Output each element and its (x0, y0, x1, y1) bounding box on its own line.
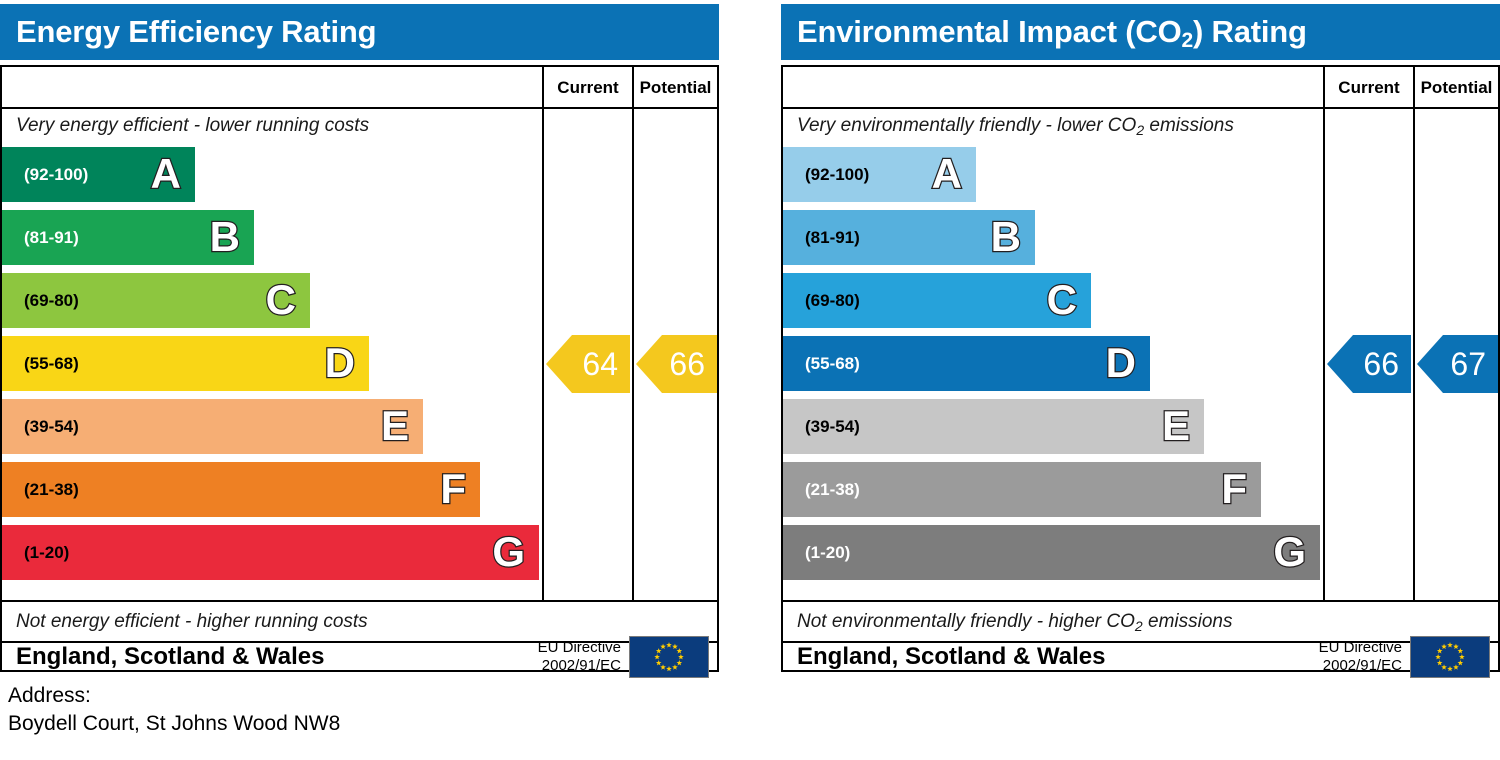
co2-chart-body: Very environmentally friendly - lower CO… (783, 109, 1319, 600)
co2-band-range-a: (92-100) (805, 165, 869, 185)
co2-bottom-caption-b: emissions (1143, 611, 1233, 632)
energy-band-range-a: (92-100) (24, 165, 88, 185)
epc-certificate-graphs: Energy Efficiency Rating Current Potenti… (0, 0, 1500, 760)
co2-band-g: (1-20)G (783, 525, 1320, 580)
energy-chart-body: Very energy efficient - lower running co… (2, 109, 538, 600)
co2-band-letter-a: A (932, 153, 962, 195)
energy-current-arrow: 64 (546, 335, 630, 393)
co2-band-range-d: (55-68) (805, 354, 860, 374)
energy-efficiency-grid: Current Potential Very energy efficient … (0, 65, 719, 672)
co2-eu-directive-text: EU Directive 2002/91/EC (1319, 639, 1402, 675)
energy-band-g: (1-20)G (2, 525, 539, 580)
environmental-impact-title-a: Environmental Impact (CO (797, 14, 1182, 49)
environmental-impact-title-b: ) Rating (1193, 14, 1307, 49)
energy-band-range-b: (81-91) (24, 228, 79, 248)
energy-region-label: England, Scotland & Wales (16, 643, 324, 671)
energy-band-letter-d: D (325, 342, 355, 384)
co2-bottom-caption: Not environmentally friendly - higher CO… (797, 611, 1232, 633)
energy-header-potential: Potential (632, 67, 717, 107)
address-block: Address: Boydell Court, St Johns Wood NW… (8, 682, 340, 738)
energy-band-range-f: (21-38) (24, 480, 79, 500)
energy-band-e: (39-54)E (2, 399, 423, 454)
energy-band-letter-g: G (492, 531, 525, 573)
energy-band-range-g: (1-20) (24, 543, 69, 563)
energy-band-letter-a: A (151, 153, 181, 195)
eu-flag-icon (629, 636, 709, 678)
co2-band-letter-g: G (1273, 531, 1306, 573)
energy-top-caption: Very energy efficient - lower running co… (16, 115, 369, 137)
environmental-impact-title-bar: Environmental Impact (CO2) Rating (781, 4, 1500, 60)
environmental-impact-title-sub: 2 (1182, 29, 1193, 52)
co2-band-letter-b: B (991, 216, 1021, 258)
energy-efficiency-panel: Energy Efficiency Rating Current Potenti… (0, 4, 719, 672)
energy-band-range-c: (69-80) (24, 291, 79, 311)
environmental-impact-panel: Environmental Impact (CO2) Rating Curren… (781, 4, 1500, 672)
address-value: Boydell Court, St Johns Wood NW8 (8, 710, 340, 738)
energy-band-f: (21-38)F (2, 462, 480, 517)
co2-footer-row: England, Scotland & Wales EU Directive 2… (783, 641, 1498, 670)
energy-efficiency-title: Energy Efficiency Rating (16, 14, 376, 49)
co2-band-letter-e: E (1162, 405, 1190, 447)
co2-band-range-f: (21-38) (805, 480, 860, 500)
energy-band-a: (92-100)A (2, 147, 195, 202)
co2-band-a: (92-100)A (783, 147, 976, 202)
co2-top-caption-b: emissions (1144, 115, 1234, 136)
co2-band-c: (69-80)C (783, 273, 1091, 328)
eu-stars-icon (654, 642, 683, 671)
energy-band-letter-e: E (381, 405, 409, 447)
co2-band-b: (81-91)B (783, 210, 1035, 265)
co2-header-current: Current (1323, 67, 1413, 107)
eu-flag-icon (1410, 636, 1490, 678)
co2-top-caption-a: Very environmentally friendly - lower CO (797, 115, 1136, 136)
co2-band-f: (21-38)F (783, 462, 1261, 517)
energy-footer-row: England, Scotland & Wales EU Directive 2… (2, 641, 717, 670)
co2-potential-arrow: 67 (1417, 335, 1498, 393)
energy-bottom-caption: Not energy efficient - higher running co… (16, 611, 368, 633)
energy-band-letter-f: F (440, 468, 466, 510)
co2-eu-directive-line2: 2002/91/EC (1319, 657, 1402, 675)
energy-efficiency-title-bar: Energy Efficiency Rating (0, 4, 719, 60)
energy-column-divider-2 (632, 109, 634, 600)
energy-eu-directive-line1: EU Directive (538, 639, 621, 657)
energy-band-range-d: (55-68) (24, 354, 79, 374)
co2-band-letter-f: F (1221, 468, 1247, 510)
co2-top-caption-sub: 2 (1136, 122, 1144, 138)
address-label: Address: (8, 682, 340, 710)
co2-header-potential: Potential (1413, 67, 1498, 107)
energy-band-letter-c: C (266, 279, 296, 321)
co2-band-d: (55-68)D (783, 336, 1150, 391)
eu-stars-icon (1411, 637, 1489, 677)
co2-band-range-c: (69-80) (805, 291, 860, 311)
co2-header-row: Current Potential (783, 67, 1498, 109)
co2-eu-directive-line1: EU Directive (1319, 639, 1402, 657)
co2-bottom-caption-row: Not environmentally friendly - higher CO… (783, 600, 1319, 641)
eu-stars-icon (630, 637, 708, 677)
energy-eu-directive-text: EU Directive 2002/91/EC (538, 639, 621, 675)
co2-current-arrow: 66 (1327, 335, 1411, 393)
energy-bottom-caption-row: Not energy efficient - higher running co… (2, 600, 538, 641)
energy-band-range-e: (39-54) (24, 417, 79, 437)
energy-header-row: Current Potential (2, 67, 717, 109)
co2-band-letter-d: D (1106, 342, 1136, 384)
energy-potential-arrow: 66 (636, 335, 717, 393)
energy-band-d: (55-68)D (2, 336, 369, 391)
co2-band-range-e: (39-54) (805, 417, 860, 437)
eu-stars-icon (1435, 642, 1464, 671)
co2-top-caption: Very environmentally friendly - lower CO… (797, 115, 1234, 137)
co2-band-range-g: (1-20) (805, 543, 850, 563)
energy-band-c: (69-80)C (2, 273, 310, 328)
environmental-impact-grid: Current Potential Very environmentally f… (781, 65, 1500, 672)
co2-bottom-caption-a: Not environmentally friendly - higher CO (797, 611, 1135, 632)
co2-region-label: England, Scotland & Wales (797, 643, 1105, 671)
energy-column-divider-1 (542, 109, 544, 600)
energy-eu-directive-line2: 2002/91/EC (538, 657, 621, 675)
co2-band-letter-c: C (1047, 279, 1077, 321)
co2-band-range-b: (81-91) (805, 228, 860, 248)
energy-header-current: Current (542, 67, 632, 107)
co2-bottom-caption-sub: 2 (1135, 618, 1143, 634)
energy-band-b: (81-91)B (2, 210, 254, 265)
co2-column-divider-2 (1413, 109, 1415, 600)
co2-band-e: (39-54)E (783, 399, 1204, 454)
co2-column-divider-1 (1323, 109, 1325, 600)
energy-band-letter-b: B (210, 216, 240, 258)
